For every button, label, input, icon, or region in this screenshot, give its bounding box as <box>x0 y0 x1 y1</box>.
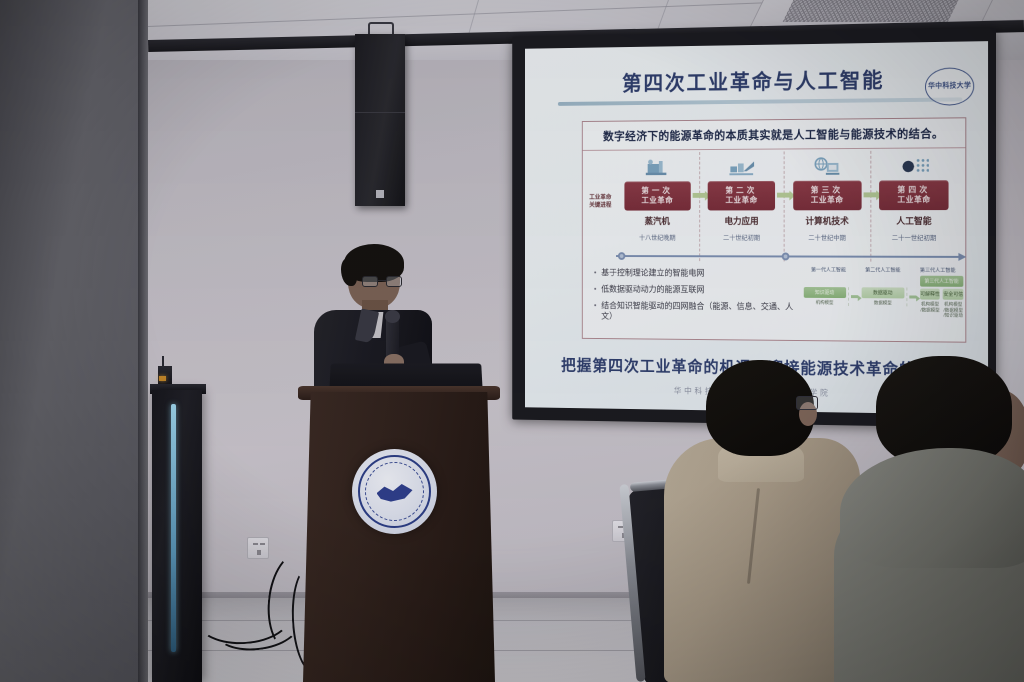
timeline-date: 二十世纪中期 <box>785 232 870 242</box>
university-logo-icon: 华中科技大学 <box>925 67 974 105</box>
bullet-text: 结合知识智能驱动的四网融合（能源、信息、交通、人文） <box>601 301 797 322</box>
microphone-head-icon <box>385 310 400 323</box>
timeline-side-label: 工业革命关键进程 <box>586 195 614 210</box>
podium <box>303 392 495 682</box>
audience-member-front-left <box>656 360 856 682</box>
ai-gen-pill: 安全可信 <box>943 289 963 300</box>
slide-content-box: 数字经济下的能源革命的本质其实就是人工智能与能源技术的结合。 工业革命关键进程 … <box>582 117 966 342</box>
left-wall-panel <box>0 0 148 682</box>
ai-gen-pill: 数据驱动 <box>861 288 904 299</box>
timeline-era: 蒸汽机 <box>616 214 699 227</box>
slide-title: 第四次工业革命与人工智能 <box>525 63 988 98</box>
ai-gen-2: 数据驱动 数据模型 <box>859 288 907 307</box>
air-conditioner-grille <box>783 0 963 22</box>
timeline-box-label: 第 一 次工业革命 <box>624 181 690 210</box>
university-crest-emblem <box>352 449 437 534</box>
bullet-text: 基于控制理论建立的智能电网 <box>601 268 704 278</box>
timeline-step: 第 二 次工业革命 电力应用 二十世纪初期 <box>700 151 785 261</box>
timeline-step: 第 四 次工业革命 人工智能 二十一世纪初期 <box>871 150 958 262</box>
ai-gen-pill: 第三代人工智能 <box>920 276 963 287</box>
industrial-revolution-timeline: 工业革命关键进程 第 一 次工业革命 蒸汽机 十八世纪晚期 <box>583 150 966 262</box>
steam-engine-icon <box>616 156 699 180</box>
hoodie-hood <box>840 448 1024 568</box>
timeline-step: 第 一 次工业革命 蒸汽机 十八世纪晚期 <box>616 152 700 261</box>
rack-status-light <box>159 376 166 381</box>
timeline-box-label: 第 三 次工业革命 <box>793 181 861 211</box>
list-item: • 低数据驱动动力的能源互联网 <box>594 284 798 295</box>
timeline-era: 电力应用 <box>700 214 784 227</box>
rack-led-strip <box>171 404 176 652</box>
bullet-dot-icon: • <box>594 268 597 278</box>
speaker-seam <box>355 112 405 113</box>
timeline-node <box>618 252 625 260</box>
ai-brain-icon <box>871 154 958 178</box>
timeline-box-label: 第 二 次工业革命 <box>708 181 775 211</box>
wall-loudspeaker <box>355 34 405 206</box>
bullet-dot-icon: • <box>594 301 597 321</box>
ai-gen-arrow-icon <box>909 296 916 299</box>
timeline-era: 计算机技术 <box>785 214 870 227</box>
ai-gen-heading: 第三代人工智能 <box>910 267 965 274</box>
timeline-date: 二十一世纪初期 <box>871 232 958 242</box>
ai-gen-1: 知识驱动 机构模型 <box>801 287 848 306</box>
ai-gen-heading: 第一代人工智能 <box>801 266 855 273</box>
title-underline <box>558 97 962 105</box>
audience-member-front-right <box>852 356 1024 682</box>
ai-gen-arrow-icon <box>851 295 858 298</box>
ai-gen-heading: 第二代人工智能 <box>856 267 911 274</box>
timeline-date: 十八世纪晚期 <box>616 232 699 242</box>
timeline-box-label: 第 四 次工业革命 <box>879 180 948 210</box>
ai-gen-pill: 知识驱动 <box>803 287 846 298</box>
computer-icon <box>785 155 870 179</box>
ai-gen-sub: 机构模型 <box>803 300 846 306</box>
timeline-date: 二十世纪初期 <box>700 232 784 242</box>
timeline-era: 人工智能 <box>871 214 958 227</box>
equipment-rack <box>152 390 202 682</box>
ai-gen-3: 第三代人工智能 可解释性 机构模型 /数据模型 安全可信 机 <box>918 276 965 319</box>
electric-power-icon <box>700 155 784 179</box>
bullet-dot-icon: • <box>594 284 597 294</box>
slide-lower-section: • 基于控制理论建立的智能电网 • 低数据驱动动力的能源互联网 • 结合知识智能… <box>583 265 966 331</box>
list-item: • 基于控制理论建立的智能电网 <box>594 268 798 279</box>
audience-glasses-icon <box>796 396 818 410</box>
lecture-hall-photo: 第四次工业革命与人工智能 华中科技大学 数字经济下的能源革命的本质其实就是人工智… <box>0 0 1024 682</box>
wall-power-socket[interactable] <box>247 537 269 559</box>
presenter-glasses-icon <box>362 276 402 287</box>
ai-gen-sub: 机构模型 /数据模型 <box>920 302 940 314</box>
bullet-list: • 基于控制理论建立的智能电网 • 低数据驱动动力的能源互联网 • 结合知识智能… <box>583 265 802 329</box>
ai-gen-sub: 机构模型 /数据模型 /知识驱动 <box>943 302 963 319</box>
ai-gen-pill: 可解释性 <box>920 289 940 300</box>
slide-statement: 数字经济下的能源革命的本质其实就是人工智能与能源技术的结合。 <box>588 125 959 144</box>
speaker-badge-icon <box>376 190 384 198</box>
timeline-node <box>782 253 790 261</box>
list-item: • 结合知识智能驱动的四网融合（能源、信息、交通、人文） <box>594 301 798 322</box>
bullet-text: 低数据驱动动力的能源互联网 <box>601 284 704 294</box>
timeline-step: 第 三 次工业革命 计算机技术 二十世纪中期 <box>785 151 871 262</box>
ai-gen-sub: 数据模型 <box>861 300 904 306</box>
ai-generations-diagram: 第一代人工智能 第二代人工智能 第三代人工智能 知识驱动 机构模型 <box>801 265 965 330</box>
